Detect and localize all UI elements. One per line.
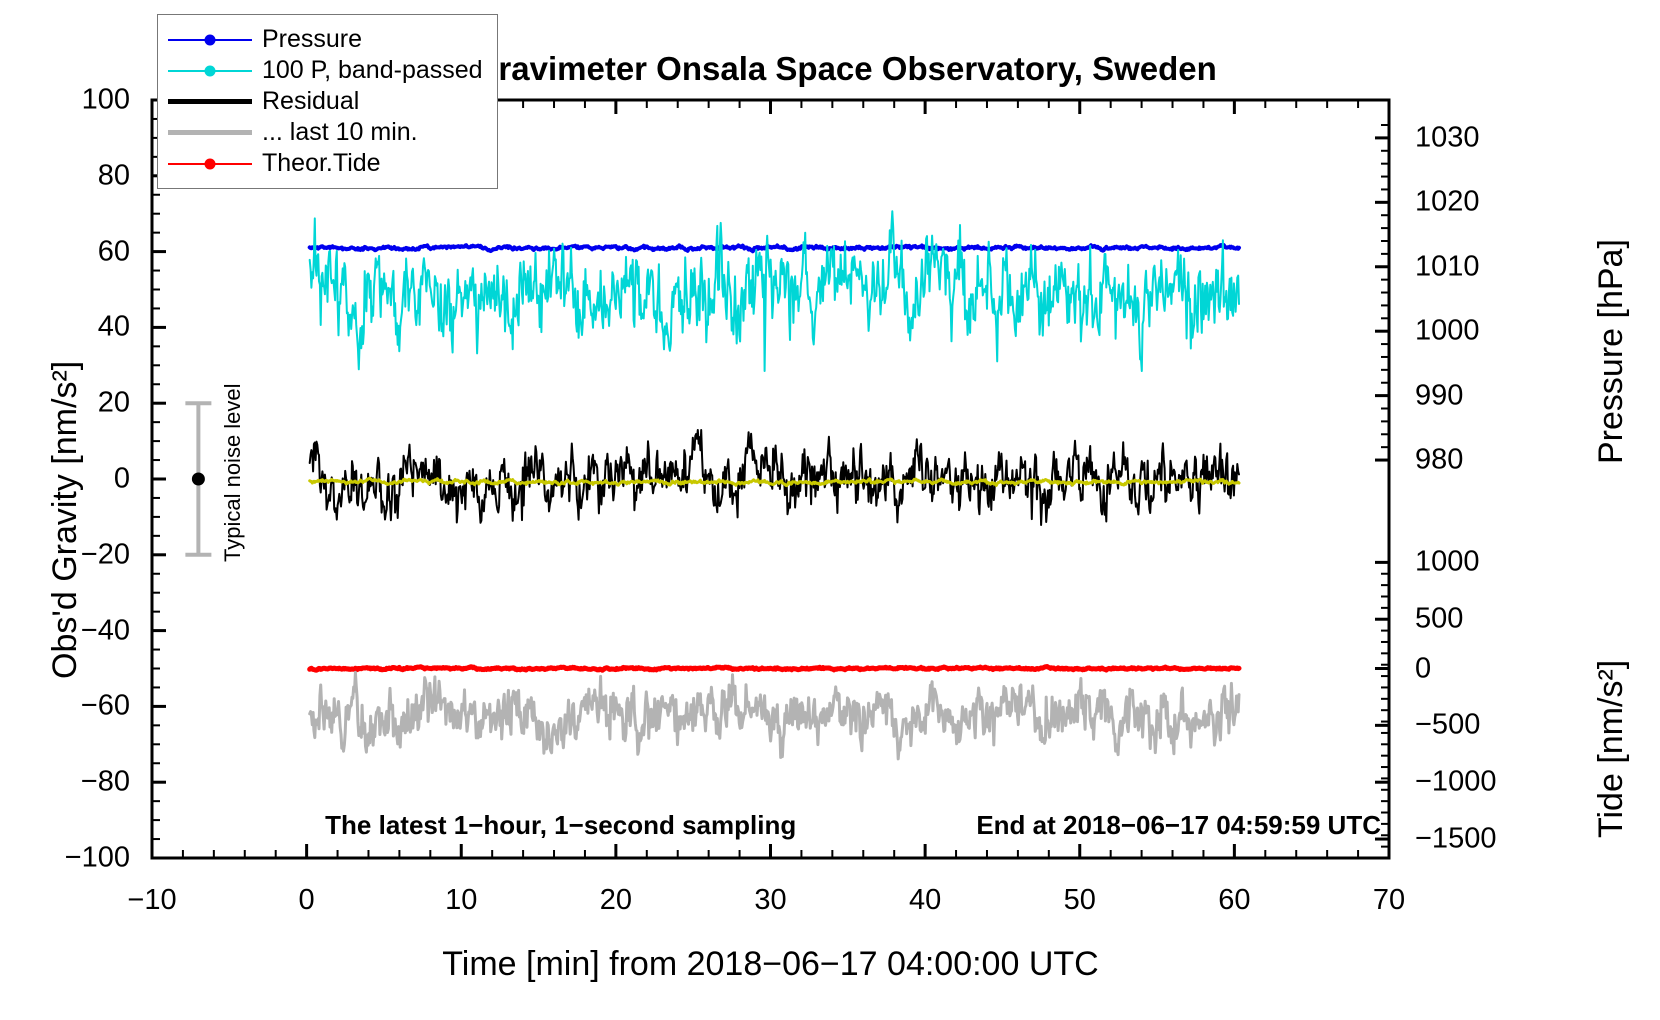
right-tide-tick-label: 0	[1415, 652, 1431, 685]
noise-level-label: Typical noise level	[220, 384, 246, 563]
left-tick-label: −80	[81, 766, 130, 799]
series-100-p-band-passed	[310, 211, 1239, 371]
annotation-bottom-right: End at 2018−06−17 04:59:59 UTC	[976, 810, 1381, 841]
legend-item-100-p-band-passed[interactable]: 100 P, band-passed	[168, 55, 483, 86]
legend-item-label: ... last 10 min.	[262, 118, 418, 147]
series-residual	[310, 430, 1239, 525]
right-pressure-tick-label: 980	[1415, 444, 1463, 477]
bottom-tick-label: 50	[1064, 884, 1096, 917]
right-pressure-tick-label: 1000	[1415, 315, 1480, 348]
right-pressure-tick-label: 1030	[1415, 121, 1480, 154]
legend-marker-dot	[205, 34, 216, 45]
right-pressure-tick-label: 990	[1415, 379, 1463, 412]
right-tide-tick-label: −1500	[1415, 823, 1496, 856]
right-top-axis-title: Pressure [hPa]	[1592, 239, 1631, 464]
left-tick-label: −40	[81, 614, 130, 647]
right-tide-tick-label: −500	[1415, 709, 1480, 742]
bottom-tick-label: 0	[299, 884, 315, 917]
right-tide-tick-label: 500	[1415, 603, 1463, 636]
right-bottom-axis-title: Tide [nm/s²]	[1592, 659, 1631, 837]
noise-level-marker	[185, 403, 211, 555]
left-tick-label: −100	[65, 842, 130, 875]
legend-marker-dot	[205, 158, 216, 169]
left-axis-title: Obs'd Gravity [nm/s²]	[46, 361, 85, 679]
left-tick-label: 0	[114, 463, 130, 496]
series-theor-tide	[310, 667, 1239, 671]
legend-swatch	[168, 99, 252, 104]
left-tick-label: 60	[98, 235, 130, 268]
bottom-axis-title: Time [min] from 2018−06−17 04:00:00 UTC	[442, 945, 1098, 984]
legend-item--last-10-min-[interactable]: ... last 10 min.	[168, 117, 483, 148]
left-tick-label: 20	[98, 387, 130, 420]
legend-item-theor-tide[interactable]: Theor.Tide	[168, 148, 483, 179]
bottom-tick-label: 10	[445, 884, 477, 917]
legend: Pressure100 P, band-passedResidual... la…	[157, 14, 498, 189]
right-tide-tick-label: −1000	[1415, 766, 1496, 799]
left-tick-label: 40	[98, 311, 130, 344]
right-tide-tick-label: 1000	[1415, 546, 1480, 579]
bottom-tick-label: 20	[600, 884, 632, 917]
bottom-tick-label: 30	[754, 884, 786, 917]
chart-canvas: Obs'd Gravity [nm/s²] Time [min] from 20…	[0, 0, 1660, 1020]
legend-item-pressure[interactable]: Pressure	[168, 24, 483, 55]
bottom-tick-label: 60	[1218, 884, 1250, 917]
left-tick-label: 80	[98, 159, 130, 192]
legend-swatch	[168, 130, 252, 135]
left-tick-label: 100	[82, 84, 130, 117]
bottom-tick-label: 70	[1373, 884, 1405, 917]
legend-item-label: Pressure	[262, 25, 362, 54]
legend-item-label: Residual	[262, 87, 359, 116]
legend-item-label: Theor.Tide	[262, 149, 381, 178]
left-tick-label: −60	[81, 690, 130, 723]
right-pressure-tick-label: 1010	[1415, 250, 1480, 283]
legend-swatch	[168, 39, 252, 41]
legend-swatch	[168, 70, 252, 72]
legend-item-label: 100 P, band-passed	[262, 56, 483, 85]
bottom-tick-label: −10	[127, 884, 176, 917]
series-pressure	[310, 245, 1239, 251]
annotation-bottom-left: The latest 1−hour, 1−second sampling	[325, 810, 796, 841]
bottom-tick-label: 40	[909, 884, 941, 917]
right-pressure-tick-label: 1020	[1415, 186, 1480, 219]
left-tick-label: −20	[81, 538, 130, 571]
legend-marker-dot	[205, 65, 216, 76]
legend-item-residual[interactable]: Residual	[168, 86, 483, 117]
legend-swatch	[168, 163, 252, 165]
series--last-10-min-	[310, 672, 1239, 759]
